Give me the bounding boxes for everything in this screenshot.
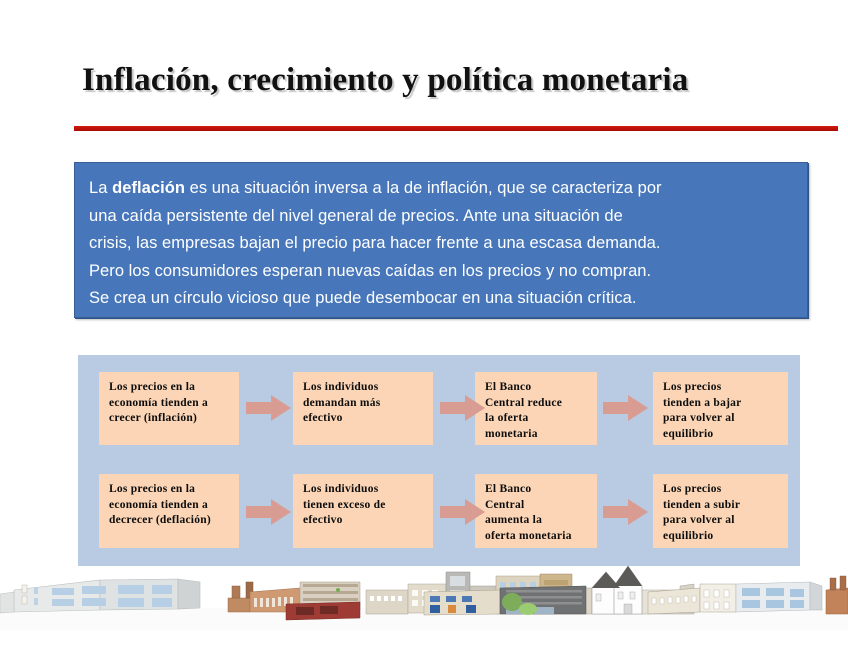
flow-box-r2c4: Los precios tienden a subir para volver … — [653, 474, 788, 548]
arrow-right-icon — [440, 393, 486, 423]
flow-box-r2c3-label: El Banco Central aumenta la oferta monet… — [485, 482, 588, 544]
flow-box-r2c1-label: Los precios en la economía tienden a dec… — [109, 482, 230, 529]
definition-keyword-deflacion: deflación — [112, 179, 185, 197]
flow-box-r2c3: El Banco Central aumenta la oferta monet… — [475, 474, 597, 548]
definition-line-3: crisis, las empresas bajan el precio par… — [89, 230, 793, 258]
flow-box-r1c1-label: Los precios en la economía tienden a cre… — [109, 380, 230, 427]
flow-box-r1c2: Los individuos demandan más efectivo — [293, 372, 433, 445]
flow-box-r1c3: El Banco Central reduce la oferta moneta… — [475, 372, 597, 445]
flow-box-r2c2: Los individuos tienen exceso de efectivo — [293, 474, 433, 548]
definition-line-4: Pero los consumidores esperan nuevas caí… — [89, 258, 793, 286]
title-underline-rule — [74, 126, 838, 131]
definition-line-1: La deflación es una situación inversa a … — [89, 175, 793, 203]
cityscape-illustration — [0, 560, 848, 630]
definition-line-1-pre: La — [89, 179, 112, 197]
flow-box-r1c2-label: Los individuos demandan más efectivo — [303, 380, 424, 427]
flow-box-r1c3-label: El Banco Central reduce la oferta moneta… — [485, 380, 588, 442]
arrow-right-icon — [440, 497, 486, 527]
flow-box-r1c4: Los precios tienden a bajar para volver … — [653, 372, 788, 445]
arrow-right-icon — [246, 497, 292, 527]
flow-box-r1c4-label: Los precios tienden a bajar para volver … — [663, 380, 779, 442]
flow-box-r2c2-label: Los individuos tienen exceso de efectivo — [303, 482, 424, 529]
definition-line-1-post: es una situación inversa a la de inflaci… — [185, 179, 662, 197]
slide-footer-area — [0, 630, 848, 655]
definition-line-5: Se crea un círculo vicioso que puede des… — [89, 285, 793, 313]
flow-box-r2c1: Los precios en la economía tienden a dec… — [99, 474, 239, 548]
flow-diagram-panel: Los precios en la economía tienden a cre… — [78, 355, 800, 566]
flow-box-r1c1: Los precios en la economía tienden a cre… — [99, 372, 239, 445]
arrow-right-icon — [603, 393, 649, 423]
definition-line-2: una caída persistente del nivel general … — [89, 203, 793, 231]
flow-box-r2c4-label: Los precios tienden a subir para volver … — [663, 482, 779, 544]
arrow-right-icon — [603, 497, 649, 527]
arrow-right-icon — [246, 393, 292, 423]
definition-callout-box: La deflación es una situación inversa a … — [74, 162, 808, 318]
page-title: Inflación, crecimiento y política moneta… — [82, 62, 822, 99]
